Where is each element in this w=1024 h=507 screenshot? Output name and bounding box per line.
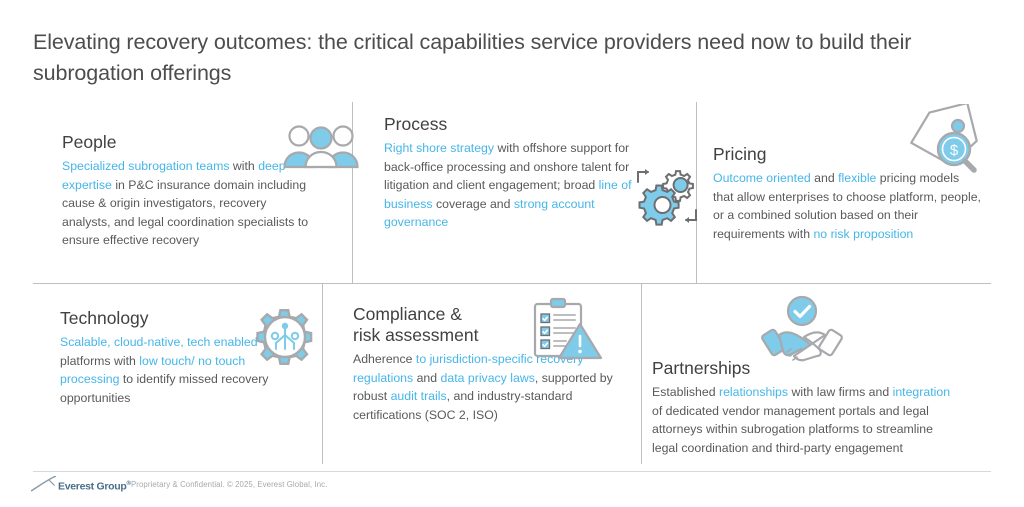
registered-trademark: ® xyxy=(126,481,130,487)
card-pricing-title: Pricing xyxy=(713,144,981,165)
card-pricing: Pricing Outcome oriented and flexible pr… xyxy=(713,144,981,243)
card-compliance-title: Compliance & risk assessment xyxy=(353,304,621,346)
card-process-title: Process xyxy=(384,114,632,135)
swoosh-icon xyxy=(31,476,57,492)
footer-copyright: Proprietary & Confidential. © 2025, Ever… xyxy=(131,480,327,489)
divider-vertical-bottom-left xyxy=(322,284,323,464)
footer-divider xyxy=(33,471,991,472)
divider-vertical-top-right xyxy=(696,102,697,283)
card-partnerships-title: Partnerships xyxy=(652,358,952,379)
page-title: Elevating recovery outcomes: the critica… xyxy=(33,27,988,89)
card-partnerships-body: Established relationships with law firms… xyxy=(652,383,952,457)
card-people-body: Specialized subrogation teams with deep … xyxy=(62,157,312,250)
capabilities-grid: People Specialized subrogation teams wit… xyxy=(0,96,1024,468)
gears-cycle-icon xyxy=(634,164,700,233)
card-people-title: People xyxy=(62,132,312,153)
divider-horizontal xyxy=(33,283,991,284)
card-technology-title: Technology xyxy=(60,308,272,329)
everest-group-logo: Everest Group® xyxy=(31,476,131,492)
divider-vertical-bottom-right xyxy=(641,284,642,464)
divider-vertical-top-left xyxy=(352,102,353,283)
card-process: Process Right shore strategy with offsho… xyxy=(384,114,632,232)
card-process-body: Right shore strategy with offshore suppo… xyxy=(384,139,632,232)
footer-logo-text: Everest Group® xyxy=(58,479,131,493)
footer: Everest Group® Proprietary & Confidentia… xyxy=(0,471,1024,507)
card-technology-body: Scalable, cloud-native, tech enabled pla… xyxy=(60,333,272,407)
card-people: People Specialized subrogation teams wit… xyxy=(62,132,312,250)
card-compliance-body: Adherence to jurisdiction-specific recov… xyxy=(353,350,621,424)
card-technology: Technology Scalable, cloud-native, tech … xyxy=(60,308,272,407)
card-pricing-body: Outcome oriented and flexible pricing mo… xyxy=(713,169,981,243)
card-compliance: Compliance & risk assessment Adherence t… xyxy=(353,304,621,424)
card-partnerships: Partnerships Established relationships w… xyxy=(652,358,952,457)
